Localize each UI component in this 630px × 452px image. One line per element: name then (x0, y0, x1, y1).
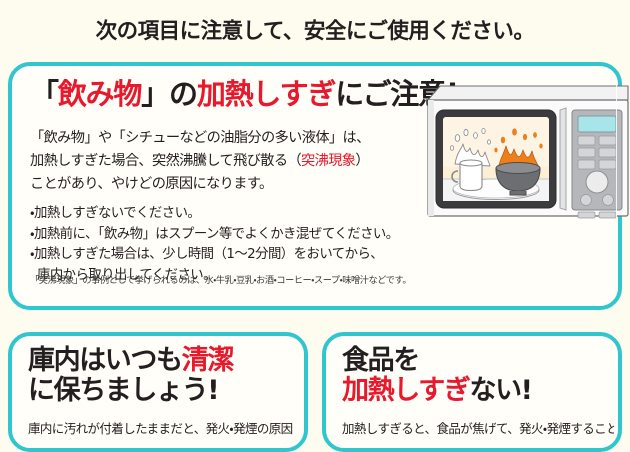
main-panel-body: 「飲み物」や「シチューなどの油脂分の多い液体」は、 加熱しすぎた場合、突然沸騰し… (30, 127, 430, 196)
overheat-title-line-1: 食品を (342, 345, 419, 376)
title-segment-drink: 飲み物 (58, 77, 141, 111)
overheat-title-part-b: ない! (469, 375, 531, 406)
title-segment-open-bracket: 「 (30, 77, 58, 111)
panel-keep-interior-clean: 庫内はいつも清潔 に保ちましょう! 庫内に汚れが付着したままだと、発火・発煙の原… (8, 332, 308, 452)
panel-overheat-title: 食品を 加熱しすぎない! (342, 346, 532, 406)
body-line-1: 「飲み物」や「シチューなどの油脂分の多い液体」は、 (30, 127, 430, 150)
main-panel-title: 「飲み物」の加熱しすぎにご注意! (30, 80, 458, 109)
title-segment-close-bracket: 」の (141, 77, 197, 111)
body-line-2-part-c: ） (355, 153, 369, 169)
page-header: 次の項目に注意して、安全にご使用ください。 (0, 0, 630, 58)
main-panel-footnote: 「突沸現象」の事例として挙げられるのは、水・牛乳・豆乳・お酒・コーヒー・スープ・… (30, 272, 440, 286)
overheat-body-line-1: 加熱しすぎると、食品が焦げて、発火・発煙すること (342, 421, 614, 436)
body-line-2-part-a: 加熱しすぎた場合、突然沸騰して飛び散る（ (30, 153, 301, 169)
clean-body-line-1: 庫内に汚れが付着したままだと、発火・発煙の原因 (28, 421, 293, 436)
main-warning-panel: 「飲み物」の加熱しすぎにご注意! 「飲み物」や「シチューなどの油脂分の多い液体」… (8, 62, 622, 310)
list-item: ・加熱しすぎた場合は、少し時間（1〜2分間）をおいてから、 (30, 245, 435, 266)
clean-title-part-a: 庫内はいつも (28, 345, 182, 376)
list-item: ・加熱しすぎないでください。 (30, 204, 435, 225)
title-segment-overheating: 加熱しすぎ (197, 77, 335, 111)
clean-title-highlight: 清潔 (182, 345, 233, 376)
body-term-bumping-phenomenon: 突沸現象 (301, 153, 355, 169)
page-header-text: 次の項目に注意して、安全にご使用ください。 (96, 14, 535, 45)
panel-clean-title: 庫内はいつも清潔 に保ちましょう! (28, 346, 233, 406)
microwave-illustration (422, 78, 630, 220)
panel-do-not-overheat: 食品を 加熱しすぎない! 加熱しすぎると、食品が焦げて、発火・発煙すること (322, 332, 622, 452)
clean-title-line-2: に保ちましょう! (28, 375, 218, 406)
panel-overheat-body: 加熱しすぎると、食品が焦げて、発火・発煙すること (342, 420, 614, 439)
list-item: ・加熱前に、「飲み物」はスプーン等でよくかき混ぜてください。 (30, 225, 435, 246)
body-line-2: 加熱しすぎた場合、突然沸騰して飛び散る（突沸現象） (30, 150, 430, 173)
overheat-title-highlight: 加熱しすぎ (342, 375, 469, 406)
panel-clean-body: 庫内に汚れが付着したままだと、発火・発煙の原因 (28, 420, 300, 439)
body-line-3: ことがあり、やけどの原因になります。 (30, 173, 430, 196)
